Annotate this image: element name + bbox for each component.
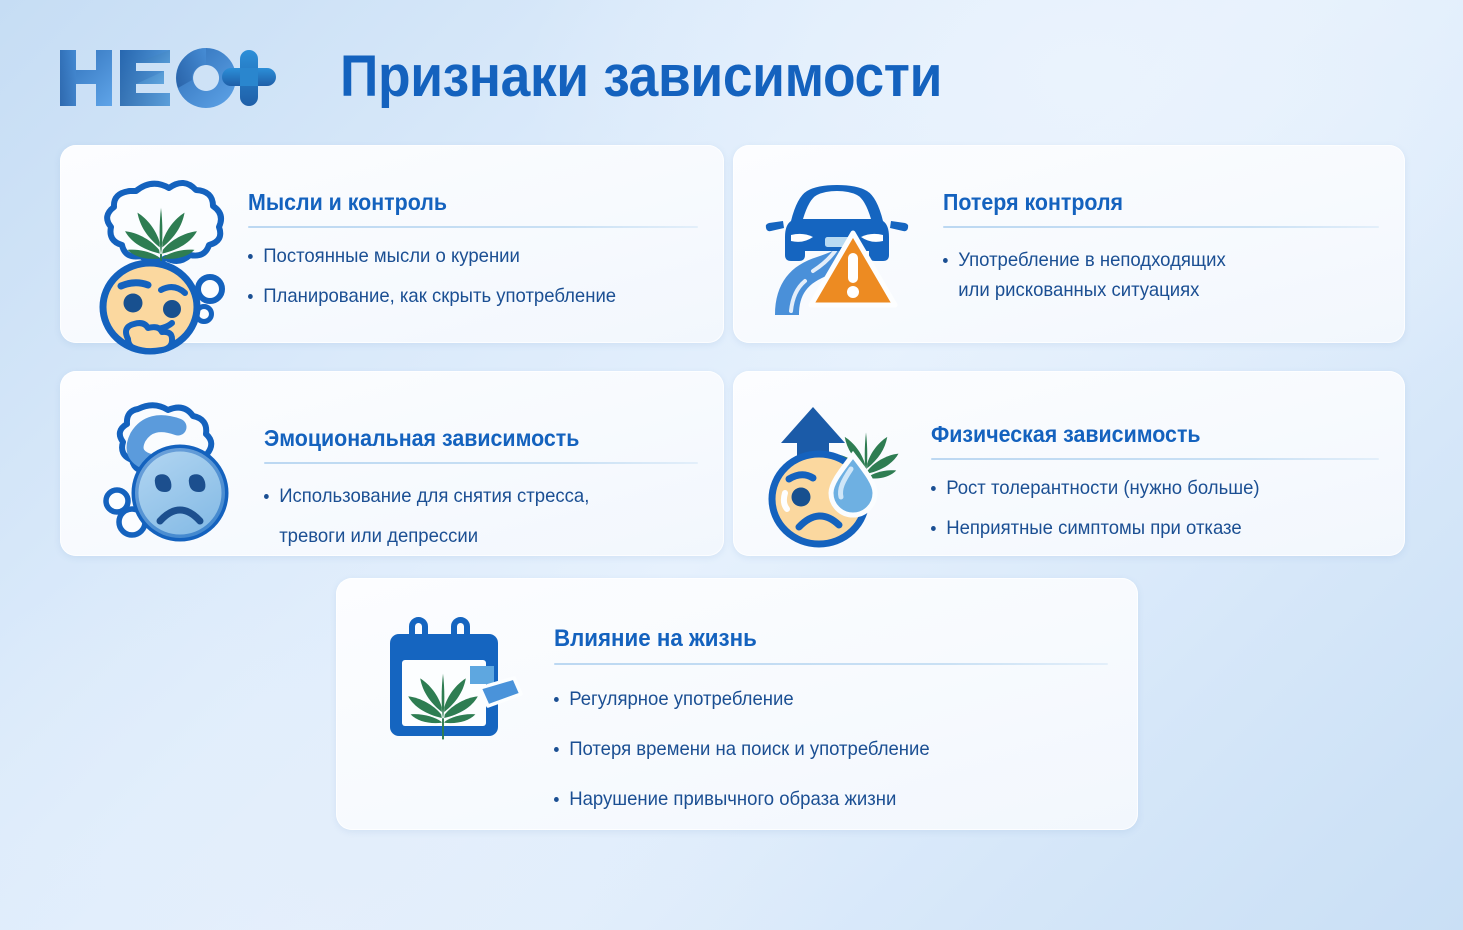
page-title: Признаки зависимости: [340, 42, 942, 112]
list-item: Регулярное употребление: [554, 685, 1080, 713]
card-thoughts: Мысли и контроль Постоянные мысли о куре…: [60, 145, 724, 343]
thinking-face-with-cannabis-thought-bubble-icon: [88, 177, 238, 353]
bullet-text: Планирование, как скрыть употребление: [263, 282, 675, 310]
card-control-body: Потеря контроля Употребление в неподходя…: [943, 187, 1379, 306]
card-physical-body: Физическая зависимость Рост толерантност…: [931, 419, 1379, 542]
card-life: Влияние на жизнь Регулярное употребление…: [336, 578, 1138, 830]
list-item: Употребление в неподходящих: [943, 246, 1357, 274]
list-item: Рост толерантности (нужно больше): [931, 474, 1357, 502]
bullet-text: Регулярное употребление: [569, 685, 1080, 713]
card-physical-bullets: Рост толерантности (нужно больше) Неприя…: [931, 474, 1379, 542]
bullet-dot-icon: [248, 254, 253, 259]
card-physical-divider: [931, 458, 1379, 460]
list-item: или рискованных ситуациях: [943, 276, 1357, 304]
card-emotional-title: Эмоциональная зависимость: [264, 423, 668, 453]
bullet-dot-icon: [554, 697, 559, 702]
card-emotional-bullets: Использование для снятия стресса, тревог…: [264, 482, 698, 550]
card-control-bullets: Употребление в неподходящих или рискован…: [943, 246, 1379, 304]
sad-blue-face-with-thought-cloud-icon: [96, 403, 244, 543]
calendar-with-cannabis-leaf-icon: [382, 620, 522, 740]
bullet-dot-icon: [931, 526, 936, 531]
bullet-dot-icon: [264, 494, 269, 499]
list-item: Использование для снятия стресса,: [264, 482, 676, 510]
bullet-text: Постоянные мысли о курении: [263, 242, 675, 270]
bullet-dot-icon: [554, 747, 559, 752]
card-control-divider: [943, 226, 1379, 228]
bullet-text: Потеря времени на поиск и употребление: [569, 735, 1080, 763]
card-control-title: Потеря контроля: [943, 187, 1348, 217]
list-item: Планирование, как скрыть употребление: [248, 282, 676, 310]
card-thoughts-title: Мысли и контроль: [248, 187, 667, 217]
card-control: Потеря контроля Употребление в неподходя…: [733, 145, 1405, 343]
card-life-divider: [554, 663, 1108, 665]
card-thoughts-body: Мысли и контроль Постоянные мысли о куре…: [248, 187, 698, 310]
bullet-dot-icon: [931, 486, 936, 491]
list-item: Неприятные симптомы при отказе: [931, 514, 1357, 542]
car-on-road-with-warning-triangle-icon: [761, 179, 923, 319]
bullet-text: Нарушение привычного образа жизни: [569, 785, 1080, 813]
list-item: Потеря времени на поиск и употребление: [554, 735, 1080, 763]
card-thoughts-divider: [248, 226, 698, 228]
bullet-dot-icon: [248, 294, 253, 299]
page-header: Признаки зависимости: [0, 0, 1463, 132]
bullet-text: Неприятные симптомы при отказе: [946, 514, 1356, 542]
card-emotional-divider: [264, 462, 698, 464]
neo-plus-logo: [58, 44, 286, 110]
anxious-face-with-up-arrow-and-cannabis-leaf-icon: [761, 399, 911, 549]
bullet-text: или рискованных ситуациях: [958, 276, 1357, 304]
bullet-continuation-spacer: [943, 288, 948, 293]
card-emotional: Эмоциональная зависимость Использование …: [60, 371, 724, 556]
card-emotional-body: Эмоциональная зависимость Использование …: [264, 423, 698, 550]
bullet-text: Употребление в неподходящих: [958, 246, 1357, 274]
list-item: Постоянные мысли о курении: [248, 242, 676, 270]
bullet-text: Использование для снятия стресса,: [279, 482, 676, 510]
bullet-dot-icon: [554, 797, 559, 802]
bullet-dot-icon: [943, 258, 948, 263]
card-physical: Физическая зависимость Рост толерантност…: [733, 371, 1405, 556]
bullet-text: Рост толерантности (нужно больше): [946, 474, 1356, 502]
card-life-title: Влияние на жизнь: [554, 624, 1069, 654]
bullet-text: тревоги или депрессии: [279, 522, 676, 550]
card-physical-title: Физическая зависимость: [931, 419, 1348, 449]
list-item: Нарушение привычного образа жизни: [554, 785, 1080, 813]
bullet-continuation-spacer: [264, 534, 269, 539]
card-life-body: Влияние на жизнь Регулярное употребление…: [554, 624, 1108, 835]
card-life-bullets: Регулярное употребление Потеря времени н…: [554, 685, 1108, 813]
list-item: тревоги или депрессии: [264, 522, 676, 550]
card-thoughts-bullets: Постоянные мысли о курении Планирование,…: [248, 242, 698, 310]
